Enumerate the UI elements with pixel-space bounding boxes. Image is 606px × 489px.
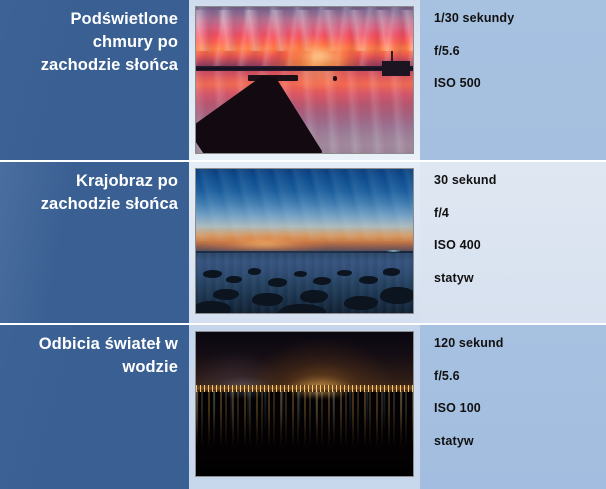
setting-shutter-speed: 1/30 sekundy xyxy=(434,12,606,25)
setting-aperture: f/4 xyxy=(434,207,606,220)
photo-afterglow xyxy=(205,235,324,252)
setting-iso: ISO 500 xyxy=(434,77,606,90)
setting-shutter-speed: 120 sekund xyxy=(434,337,606,350)
setting-shutter-speed: 30 sekund xyxy=(434,174,606,187)
photo-rock xyxy=(300,290,328,303)
photo-rock xyxy=(380,287,414,304)
setting-tripod: statyw xyxy=(434,435,606,448)
photo-rock xyxy=(248,268,261,274)
row-photo-cell xyxy=(189,325,420,489)
photo-foreground-darkness xyxy=(196,440,413,476)
photo-rock xyxy=(252,293,282,306)
photo-rock xyxy=(313,277,330,285)
photo-rock xyxy=(344,296,379,310)
setting-aperture: f/5.6 xyxy=(434,45,606,58)
photography-settings-table: Podświetlone chmury po zachodzie słońca … xyxy=(0,0,606,489)
row-title-cell: Krajobraz po zachodzie słońca xyxy=(0,162,189,323)
photo-cirrus-clouds xyxy=(196,169,413,241)
setting-iso: ISO 100 xyxy=(434,402,606,415)
row-photo-cell xyxy=(189,0,420,160)
row-settings-cell: 1/30 sekundy f/5.6 ISO 500 xyxy=(420,0,606,160)
setting-tripod: statyw xyxy=(434,272,606,285)
photo-rock xyxy=(294,271,307,277)
row-photo-cell xyxy=(189,162,420,323)
photo-rock xyxy=(226,276,241,283)
setting-aperture: f/5.6 xyxy=(434,370,606,383)
row-title-text: Odbicia świateł w wodzie xyxy=(10,333,178,379)
row-title-cell: Odbicia świateł w wodzie xyxy=(0,325,189,489)
row-title-cell: Podświetlone chmury po zachodzie słońca xyxy=(0,0,189,160)
photo-rock xyxy=(195,301,231,314)
row-settings-cell: 120 sekund f/5.6 ISO 100 statyw xyxy=(420,325,606,489)
table-row: Podświetlone chmury po zachodzie słońca … xyxy=(0,0,606,160)
photo-city-light-reflections xyxy=(195,331,414,477)
photo-sunset-clouds xyxy=(195,6,414,154)
photo-rock xyxy=(278,304,326,314)
setting-iso: ISO 400 xyxy=(434,239,606,252)
row-title-text: Podświetlone chmury po zachodzie słońca xyxy=(10,8,178,76)
photo-buoy-silhouette xyxy=(333,76,337,80)
row-settings-cell: 30 sekund f/4 ISO 400 statyw xyxy=(420,162,606,323)
photo-pier-right-silhouette xyxy=(382,61,410,76)
table-row: Odbicia świateł w wodzie 120 sekund f/5.… xyxy=(0,325,606,489)
photo-blue-hour-seascape xyxy=(195,168,414,314)
photo-cool-reflection-streaks xyxy=(196,391,413,434)
photo-rock xyxy=(383,268,400,275)
row-title-text: Krajobraz po zachodzie słońca xyxy=(10,170,178,216)
photo-rock xyxy=(213,289,239,301)
table-row: Krajobraz po zachodzie słońca xyxy=(0,162,606,323)
